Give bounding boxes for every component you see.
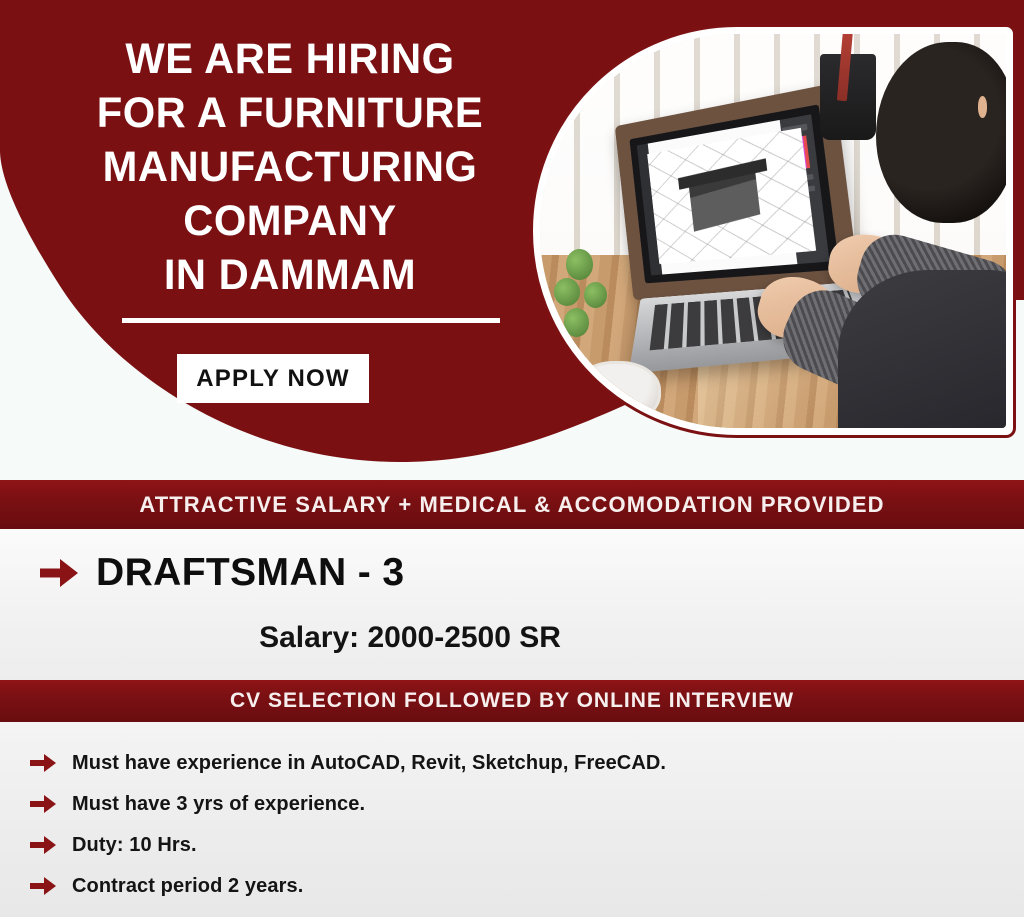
title-divider [122, 318, 500, 323]
title-line-3: MANUFACTURING [48, 140, 533, 194]
arrow-right-icon [30, 876, 56, 896]
benefits-banner: ATTRACTIVE SALARY + MEDICAL & ACCOMODATI… [0, 480, 1024, 529]
potted-plant [554, 247, 619, 365]
plant-leaf [584, 282, 607, 308]
page-title: WE ARE HIRING FOR A FURNITURE MANUFACTUR… [48, 32, 533, 302]
hero-photo [540, 34, 1006, 428]
list-item: Must have 3 yrs of experience. [30, 785, 1024, 823]
process-banner: CV SELECTION FOLLOWED BY ONLINE INTERVIE… [0, 680, 1024, 722]
role-title: DRAFTSMAN - 3 [96, 551, 405, 595]
list-item: Contract period 2 years. [30, 867, 1024, 905]
hiring-poster: WE ARE HIRING FOR A FURNITURE MANUFACTUR… [0, 0, 1024, 917]
arrow-right-icon [30, 753, 56, 773]
person-shoulder [838, 270, 1006, 428]
apply-now-button[interactable]: APPLY NOW [177, 354, 369, 403]
hero-section: WE ARE HIRING FOR A FURNITURE MANUFACTUR… [0, 0, 1024, 478]
cad-drawing-canvas [647, 128, 815, 264]
list-item: Duty: 10 Hrs. [30, 826, 1024, 864]
arrow-right-icon [30, 835, 56, 855]
requirement-text: Duty: 10 Hrs. [72, 834, 197, 857]
title-line-2: FOR A FURNITURE [48, 86, 533, 140]
arrow-right-icon [40, 558, 78, 588]
title-line-1: WE ARE HIRING [48, 32, 533, 86]
title-line-5: IN DAMMAM [48, 248, 533, 302]
plant-leaf [564, 308, 589, 336]
building-render [688, 167, 760, 232]
role-salary: Salary: 2000-2500 SR [0, 621, 820, 655]
plant-leaf [554, 278, 580, 306]
person-ear [978, 96, 988, 118]
hero-photo-frame [530, 24, 1016, 438]
plant-leaf [566, 249, 593, 280]
title-line-4: COMPANY [48, 194, 533, 248]
laptop-screen [637, 114, 829, 276]
arrow-right-icon [30, 794, 56, 814]
requirement-text: Must have 3 yrs of experience. [72, 793, 365, 816]
list-item: Must have experience in AutoCAD, Revit, … [30, 744, 1024, 782]
requirement-text: Must have experience in AutoCAD, Revit, … [72, 752, 666, 775]
role-row: DRAFTSMAN - 3 [40, 551, 405, 595]
coffee-mug [573, 361, 662, 424]
requirements-list: Must have experience in AutoCAD, Revit, … [0, 722, 1024, 917]
role-section: DRAFTSMAN - 3 Salary: 2000-2500 SR [0, 529, 1024, 680]
laptop-bezel [630, 104, 839, 283]
requirement-text: Contract period 2 years. [72, 875, 303, 898]
